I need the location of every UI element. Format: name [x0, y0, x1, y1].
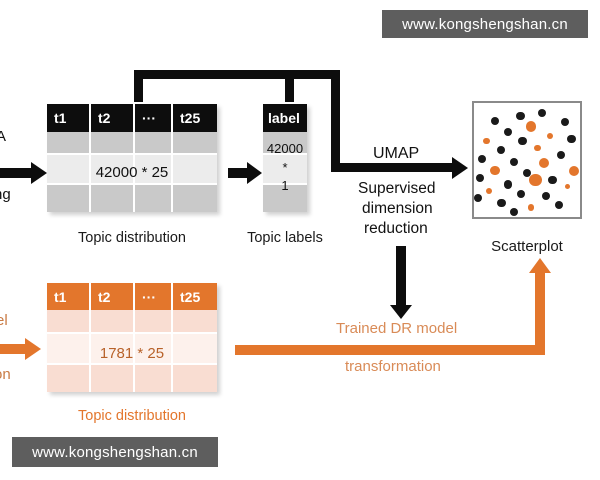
column-header-t1: t1	[47, 283, 91, 310]
column-header-t2: t2	[91, 104, 135, 132]
scatter-point	[491, 117, 499, 125]
training-label-top: A	[0, 128, 6, 145]
table-cell	[173, 185, 217, 212]
predict-table-caption: Topic distribution	[47, 408, 217, 424]
scatter-point	[518, 137, 526, 145]
table-cell	[135, 185, 173, 212]
umap-label: UMAP	[373, 145, 419, 163]
table-cell	[91, 132, 135, 155]
column-header-label: label	[263, 104, 307, 132]
table-cell	[135, 310, 173, 334]
column-header-t1: t1	[47, 104, 91, 132]
label-value-rows: 42000 * 1	[263, 142, 307, 193]
watermark-bottom: www.kongshengshan.cn	[12, 437, 218, 467]
predict-label-bottom: on	[0, 366, 11, 383]
scatter-point	[478, 155, 486, 163]
label-table-caption: Topic labels	[233, 230, 337, 246]
trained-dr-model-label: Trained DR model	[336, 320, 457, 337]
scatter-point	[569, 166, 579, 176]
table-row	[47, 310, 217, 334]
transformation-arrow-head	[529, 258, 551, 273]
column-header-ellipsis: ···	[135, 104, 173, 132]
scatter-point	[567, 135, 575, 143]
table-row	[47, 132, 217, 155]
scatter-point	[561, 118, 569, 126]
label-value-line3: 1	[263, 179, 307, 193]
scatter-point	[476, 174, 484, 182]
scatter-point	[517, 190, 525, 198]
transformation-label: transformation	[345, 358, 441, 375]
train-topic-distribution-table: t1 t2 ··· t25	[47, 104, 217, 212]
scatter-point	[516, 112, 524, 120]
scatter-point	[555, 201, 563, 209]
bracket-label-stub	[285, 70, 294, 102]
supervised-line-3: reduction	[364, 220, 428, 238]
scatter-point	[510, 158, 518, 166]
scatter-point	[504, 180, 512, 188]
table-cell	[47, 365, 91, 392]
scatter-point	[548, 176, 556, 184]
predict-table-dimensions: 1781 * 25	[47, 345, 217, 362]
scatter-point	[497, 146, 505, 154]
training-label-bottom: ng	[0, 186, 11, 203]
transformation-horizontal-bar	[235, 345, 545, 355]
column-header-t2: t2	[91, 283, 135, 310]
table-header-row: label	[263, 104, 307, 132]
scatter-point	[547, 133, 553, 139]
bracket-left-stub	[134, 70, 143, 102]
scatter-point	[529, 174, 541, 186]
scatter-point	[483, 138, 489, 144]
predict-arrow-head	[25, 338, 41, 360]
table-cell	[47, 132, 91, 155]
scatter-point	[497, 199, 505, 207]
predict-arrow-shaft	[0, 344, 28, 354]
table-header-row: t1 t2 ··· t25	[47, 283, 217, 310]
labels-arrow-head	[247, 162, 262, 184]
train-table-dimensions: 42000 * 25	[47, 164, 217, 181]
table-cell	[47, 310, 91, 334]
trained-model-arrow-shaft	[396, 246, 406, 308]
scatter-point	[526, 121, 536, 131]
bracket-top-horizontal	[134, 70, 340, 79]
scatter-point	[557, 151, 565, 159]
label-value-line1: 42000	[263, 142, 307, 156]
training-arrow-head	[31, 162, 47, 184]
table-cell	[91, 185, 135, 212]
watermark-top: www.kongshengshan.cn	[382, 10, 588, 38]
table-cell	[47, 185, 91, 212]
supervised-line-2: dimension	[362, 200, 433, 218]
scatter-point	[474, 194, 482, 202]
scatter-point	[534, 145, 541, 152]
diagram-canvas: A ng t1 t2 ··· t25 42000 * 25	[0, 0, 600, 480]
scatter-point	[490, 166, 499, 175]
bracket-right-vertical	[331, 70, 340, 172]
scatter-point	[528, 204, 534, 210]
train-table-caption: Topic distribution	[47, 230, 217, 246]
table-cell	[91, 365, 135, 392]
table-cell	[173, 132, 217, 155]
transformation-vertical-bar	[535, 272, 545, 352]
table-cell	[135, 365, 173, 392]
column-header-ellipsis: ···	[135, 283, 173, 310]
scatter-point	[542, 192, 550, 200]
supervised-line-1: Supervised	[358, 180, 436, 198]
scatter-point	[504, 128, 512, 136]
scatter-point	[510, 208, 518, 216]
umap-arrow-shaft	[331, 163, 455, 172]
table-cell	[135, 132, 173, 155]
trained-model-arrow-head	[390, 305, 412, 319]
scatter-point	[486, 188, 492, 194]
umap-arrow-head	[452, 157, 468, 179]
label-value-line2: *	[263, 161, 307, 175]
scatter-point	[565, 184, 570, 189]
table-cell	[173, 310, 217, 334]
table-header-row: t1 t2 ··· t25	[47, 104, 217, 132]
scatter-point	[539, 158, 549, 168]
column-header-t25: t25	[173, 104, 217, 132]
training-arrow-shaft	[0, 168, 34, 178]
predict-topic-distribution-table: t1 t2 ··· t25	[47, 283, 217, 392]
label-table-dimensions: 42000 * 1	[263, 142, 307, 193]
predict-label-top: el	[0, 312, 8, 329]
table-row	[47, 185, 217, 212]
table-cell	[173, 365, 217, 392]
table-row	[47, 365, 217, 392]
scatter-point	[538, 109, 546, 117]
scatterplot-caption: Scatterplot	[472, 238, 582, 255]
scatterplot-panel	[472, 101, 582, 219]
column-header-t25: t25	[173, 283, 217, 310]
table-cell	[91, 310, 135, 334]
